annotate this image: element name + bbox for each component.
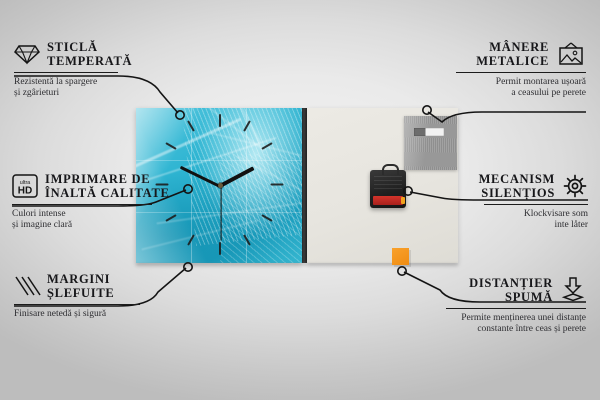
feature-title-line1: MÂNERE bbox=[476, 40, 549, 54]
feature-desc-line1: Finisare netedă și sigură bbox=[14, 309, 154, 320]
feature-desc-line1: Permite menținerea unei distanțe bbox=[446, 313, 586, 324]
feature-header: MARGINI ȘLEFUITE bbox=[14, 272, 154, 300]
feature-title-line1: IMPRIMARE DE bbox=[45, 172, 170, 186]
feature-title-line2: SILENȚIOS bbox=[479, 186, 555, 200]
battery bbox=[373, 196, 403, 205]
feature-header: MECANISM SILENȚIOS bbox=[478, 172, 588, 200]
clock-hand-hub bbox=[218, 183, 223, 188]
feature-title-line2: TEMPERATĂ bbox=[47, 54, 132, 68]
feature-header: STICLĂ TEMPERATĂ bbox=[14, 40, 146, 68]
feature-title-line1: STICLĂ bbox=[47, 40, 132, 54]
connector-dot-foam bbox=[398, 267, 406, 275]
feature-title-line2: SPUMĂ bbox=[469, 290, 553, 304]
feature-high-quality-print: ultra HD IMPRIMARE DE ÎNALTĂ CALITATE Cu… bbox=[12, 172, 162, 231]
feature-desc-line2: constante între ceas și perete bbox=[446, 324, 586, 335]
hour-tick bbox=[219, 114, 221, 127]
feature-rule bbox=[484, 204, 588, 205]
infographic-canvas: STICLĂ TEMPERATĂ Rezistentă la spargere … bbox=[0, 0, 600, 400]
feature-desc-line1: Culori intense bbox=[12, 209, 162, 220]
glass-seam bbox=[136, 160, 302, 161]
feature-rule bbox=[12, 204, 152, 205]
feature-polished-edges: MARGINI ȘLEFUITE Finisare netedă și sigu… bbox=[14, 272, 154, 320]
feature-silent-mechanism: MECANISM SILENȚIOS Klockvisare som inte … bbox=[478, 172, 588, 231]
diamond-icon bbox=[14, 44, 40, 65]
foam-spacer-part bbox=[392, 248, 409, 265]
feature-rule bbox=[456, 72, 586, 73]
clock-hand-second bbox=[220, 187, 221, 241]
ultra-hd-icon-large-text: HD bbox=[18, 186, 32, 197]
feature-rule bbox=[446, 308, 586, 309]
feature-header: MÂNERE METALICE bbox=[448, 40, 586, 68]
feature-title-line1: MECANISM bbox=[479, 172, 555, 186]
mechanism-loop bbox=[382, 164, 399, 175]
feature-desc-line2: a ceasului pe perete bbox=[448, 88, 586, 99]
hanger-slot bbox=[414, 128, 444, 136]
feature-title-line2: ȘLEFUITE bbox=[47, 286, 114, 300]
feature-desc-line1: Permit montarea ușoară bbox=[448, 77, 586, 88]
feature-title-line2: ÎNALTĂ CALITATE bbox=[45, 186, 170, 200]
feature-header: ultra HD IMPRIMARE DE ÎNALTĂ CALITATE bbox=[12, 172, 162, 200]
edges-icon bbox=[14, 275, 40, 297]
hanger-plate-part bbox=[404, 116, 457, 170]
feature-title-line2: METALICE bbox=[476, 54, 549, 68]
feature-desc-line2: și imagine clară bbox=[12, 220, 162, 231]
feature-desc-line1: Rezistentă la spargere bbox=[14, 77, 146, 88]
ultra-hd-icon: ultra HD bbox=[12, 174, 38, 198]
feature-desc-line2: inte låter bbox=[478, 220, 588, 231]
feature-desc-line1: Klockvisare som bbox=[478, 209, 588, 220]
hour-tick bbox=[219, 242, 221, 255]
feature-header: DISTANȚIER SPUMĂ bbox=[446, 276, 586, 304]
feature-tempered-glass: STICLĂ TEMPERATĂ Rezistentă la spargere … bbox=[14, 40, 146, 99]
picture-hanger-icon bbox=[556, 42, 586, 66]
feature-metal-handles: MÂNERE METALICE Permit montarea ușoară a… bbox=[448, 40, 586, 99]
feature-rule bbox=[14, 304, 140, 305]
feature-foam-spacer: DISTANȚIER SPUMĂ Permite menținerea unei… bbox=[446, 276, 586, 335]
mechanism-detail bbox=[374, 176, 402, 192]
hour-tick bbox=[271, 184, 284, 186]
product-shadow bbox=[136, 263, 458, 267]
feature-rule bbox=[14, 72, 118, 73]
feature-title-line1: MARGINI bbox=[47, 272, 114, 286]
clock-mechanism-part bbox=[370, 170, 406, 208]
down-arrow-layers-icon bbox=[560, 277, 586, 303]
gear-icon bbox=[562, 173, 588, 199]
feature-title-line1: DISTANȚIER bbox=[469, 276, 553, 290]
feature-desc-line2: și zgârieturi bbox=[14, 88, 146, 99]
